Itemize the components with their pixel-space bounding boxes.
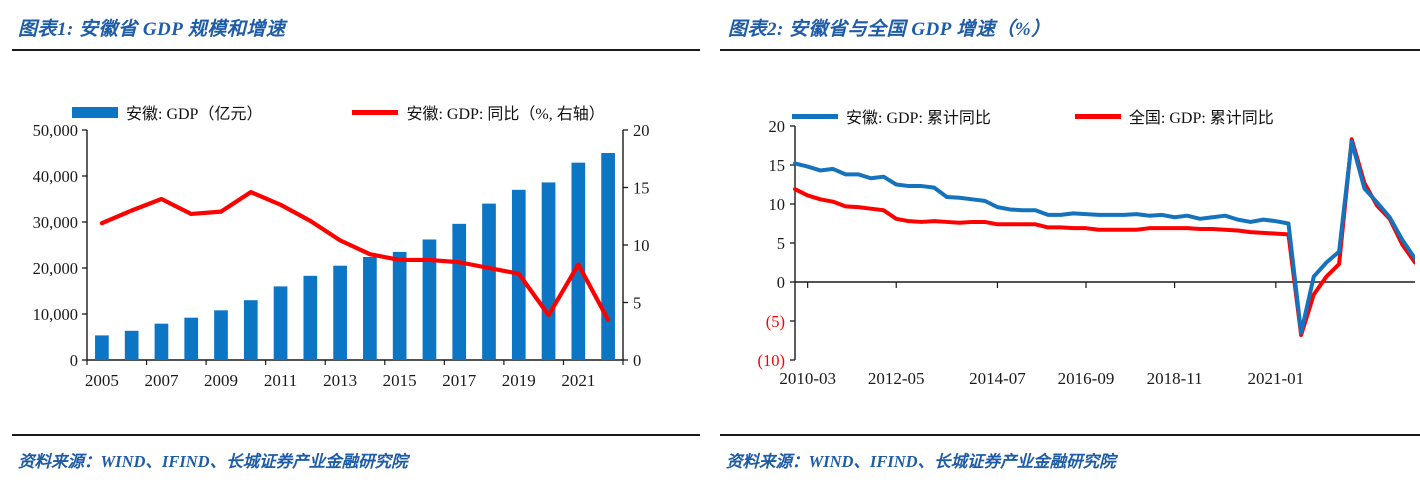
bar (393, 252, 407, 360)
x-axis-tick-label: 2013 (323, 371, 357, 390)
legend-bar-swatch-icon (72, 107, 118, 118)
y-axis-tick-label: 0 (777, 273, 785, 292)
right-chart-plot: (10)(5)051015202010-032012-052014-072016… (715, 112, 1415, 392)
y-axis-tick-label: 10 (769, 195, 786, 214)
x-axis-tick-label: 2010-03 (779, 369, 836, 388)
left-footer-divider (12, 434, 700, 436)
right-axis-tick-label: 15 (633, 179, 650, 198)
left-axis-tick-label: 40,000 (33, 167, 78, 186)
x-axis-tick-label: 2021 (561, 371, 595, 390)
y-axis-tick-label: 5 (777, 234, 785, 253)
bar (571, 163, 585, 360)
legend-line-swatch-icon (352, 110, 398, 115)
y-axis-tick-label: (10) (758, 351, 786, 370)
right-axis-tick-label: 0 (633, 351, 641, 370)
left-chart-panel: 图表1: 安徽省 GDP 规模和增速 安徽: GDP（亿元） 安徽: GDP: … (0, 0, 710, 494)
right-source-note: 资料来源：WIND、IFIND、长城证券产业金融研究院 (726, 448, 1116, 472)
left-axis-tick-label: 10,000 (33, 305, 78, 324)
left-axis-tick-label: 50,000 (33, 121, 78, 140)
x-axis-tick-label: 2005 (85, 371, 119, 390)
bar (423, 239, 437, 360)
x-axis-tick-label: 2007 (144, 371, 179, 390)
bar (452, 224, 466, 360)
growth-line (795, 139, 1415, 335)
bar (95, 335, 109, 360)
bar (184, 318, 198, 360)
x-axis-tick-label: 2011 (264, 371, 297, 390)
right-footer-divider (720, 434, 1420, 436)
x-axis-tick-label: 2009 (204, 371, 238, 390)
y-axis-tick-label: (5) (766, 312, 785, 331)
x-axis-tick-label: 2012-05 (868, 369, 925, 388)
bar (542, 182, 556, 360)
y-axis-tick-label: 15 (769, 156, 786, 175)
bar (303, 276, 317, 360)
right-axis-tick-label: 5 (633, 294, 641, 313)
bar (214, 310, 228, 360)
x-axis-tick-label: 2014-07 (969, 369, 1026, 388)
right-axis-tick-label: 20 (633, 121, 650, 140)
bar (601, 153, 615, 360)
yoy-growth-line (102, 192, 608, 320)
left-chart-plot: 010,00020,00030,00040,00050,000051015202… (5, 118, 705, 398)
x-axis-tick-label: 2015 (383, 371, 417, 390)
bar (333, 266, 347, 360)
left-source-note: 资料来源：WIND、IFIND、长城证券产业金融研究院 (18, 448, 408, 472)
x-axis-tick-label: 2019 (502, 371, 536, 390)
y-axis-tick-label: 20 (769, 117, 786, 136)
x-axis-tick-label: 2018-11 (1147, 369, 1203, 388)
right-chart-panel: 图表2: 安徽省与全国 GDP 增速（%） 安徽: GDP: 累计同比 全国: … (710, 0, 1420, 494)
bar (244, 300, 258, 360)
left-axis-tick-label: 30,000 (33, 213, 78, 232)
left-figure-title: 图表1: 安徽省 GDP 规模和增速 (18, 14, 285, 41)
bar (482, 204, 496, 360)
x-axis-tick-label: 2017 (442, 371, 477, 390)
bar (155, 324, 169, 360)
bar (363, 257, 377, 360)
bar (274, 286, 288, 360)
growth-line (795, 142, 1415, 333)
right-figure-title: 图表2: 安徽省与全国 GDP 增速（%） (728, 14, 1051, 41)
left-axis-tick-label: 20,000 (33, 259, 78, 278)
x-axis-tick-label: 2016-09 (1058, 369, 1115, 388)
x-axis-tick-label: 2021-01 (1247, 369, 1304, 388)
left-axis-tick-label: 0 (70, 351, 78, 370)
left-title-divider (12, 49, 700, 51)
page-root: 图表1: 安徽省 GDP 规模和增速 安徽: GDP（亿元） 安徽: GDP: … (0, 0, 1420, 494)
bar (125, 331, 139, 360)
right-axis-tick-label: 10 (633, 236, 650, 255)
right-title-divider (720, 49, 1420, 51)
